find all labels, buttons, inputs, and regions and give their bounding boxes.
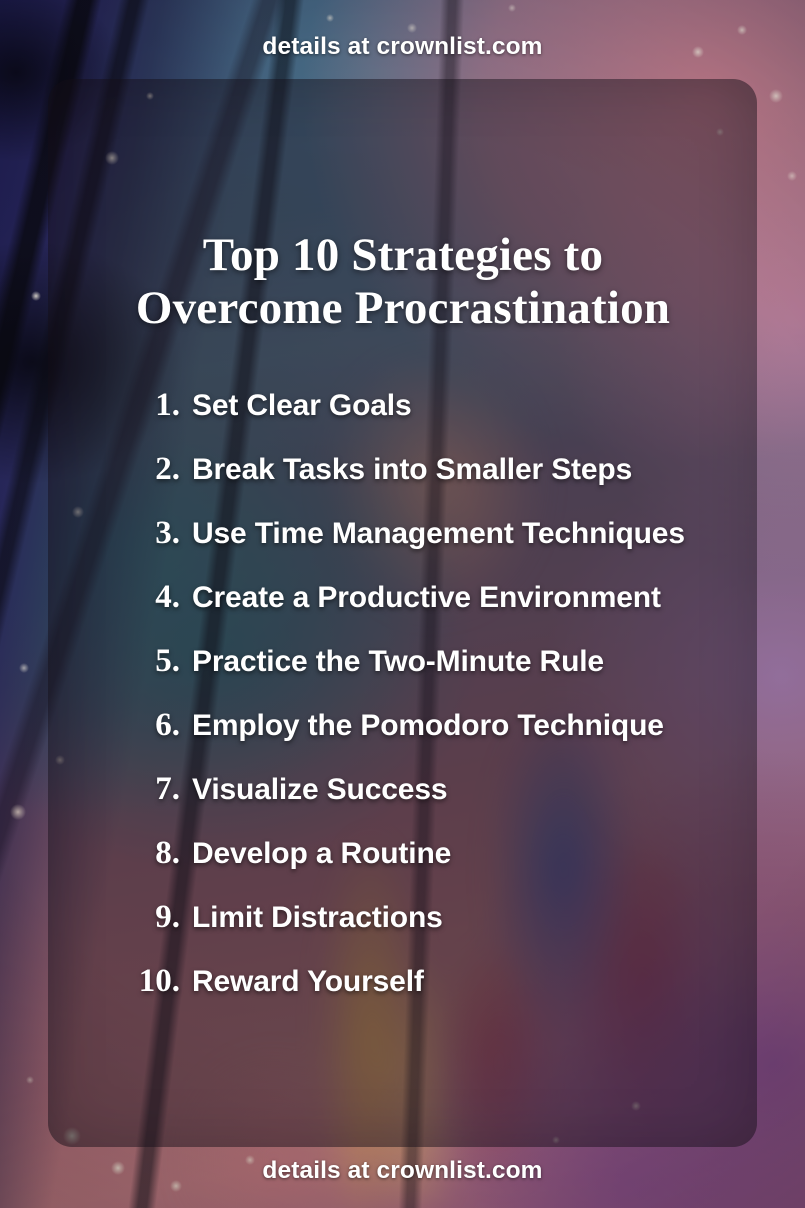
list-item-label: Use Time Management Techniques — [192, 512, 805, 555]
list-item: 7. Visualize Success — [116, 768, 805, 811]
infographic-poster: details at crownlist.com Top 10 Strategi… — [0, 0, 805, 1208]
list-item-label: Create a Productive Environment — [192, 576, 805, 619]
list-item: 3. Use Time Management Techniques — [116, 512, 805, 555]
list-item-number: 6. — [116, 704, 192, 747]
list-item-label: Develop a Routine — [192, 832, 805, 875]
list-item: 4. Create a Productive Environment — [116, 576, 805, 619]
list-item-number: 3. — [116, 512, 192, 555]
top-branding-text: details at crownlist.com — [0, 33, 805, 61]
list-item-number: 8. — [116, 832, 192, 875]
list-item-number: 5. — [116, 640, 192, 683]
list-item: 9. Limit Distractions — [116, 896, 805, 939]
list-item-number: 2. — [116, 448, 192, 491]
list-item: 6. Employ the Pomodoro Technique — [116, 704, 805, 747]
page-title-line-2: Overcome Procrastination — [136, 282, 670, 334]
list-item-label: Limit Distractions — [192, 896, 805, 939]
list-item-number: 10. — [116, 960, 192, 1003]
list-item-label: Visualize Success — [192, 768, 805, 811]
list-item-label: Break Tasks into Smaller Steps — [192, 448, 805, 491]
list-item-number: 9. — [116, 896, 192, 939]
list-item-number: 7. — [116, 768, 192, 811]
list-item: 10. Reward Yourself — [116, 960, 805, 1003]
list-item-number: 1. — [116, 384, 192, 427]
strategies-list: 1. Set Clear Goals 2. Break Tasks into S… — [76, 384, 805, 1024]
bottom-branding-text: details at crownlist.com — [0, 1157, 805, 1185]
list-item-label: Employ the Pomodoro Technique — [192, 704, 805, 747]
list-item: 2. Break Tasks into Smaller Steps — [116, 448, 805, 491]
list-item-number: 4. — [116, 576, 192, 619]
list-item: 8. Develop a Routine — [116, 832, 805, 875]
list-item: 1. Set Clear Goals — [116, 384, 805, 427]
list-item-label: Set Clear Goals — [192, 384, 805, 427]
list-item-label: Reward Yourself — [192, 960, 805, 1003]
page-title: Top 10 Strategies to Overcome Procrastin… — [60, 229, 746, 334]
list-item-label: Practice the Two-Minute Rule — [192, 640, 805, 683]
page-title-line-1: Top 10 Strategies to — [203, 229, 603, 281]
list-item: 5. Practice the Two-Minute Rule — [116, 640, 805, 683]
